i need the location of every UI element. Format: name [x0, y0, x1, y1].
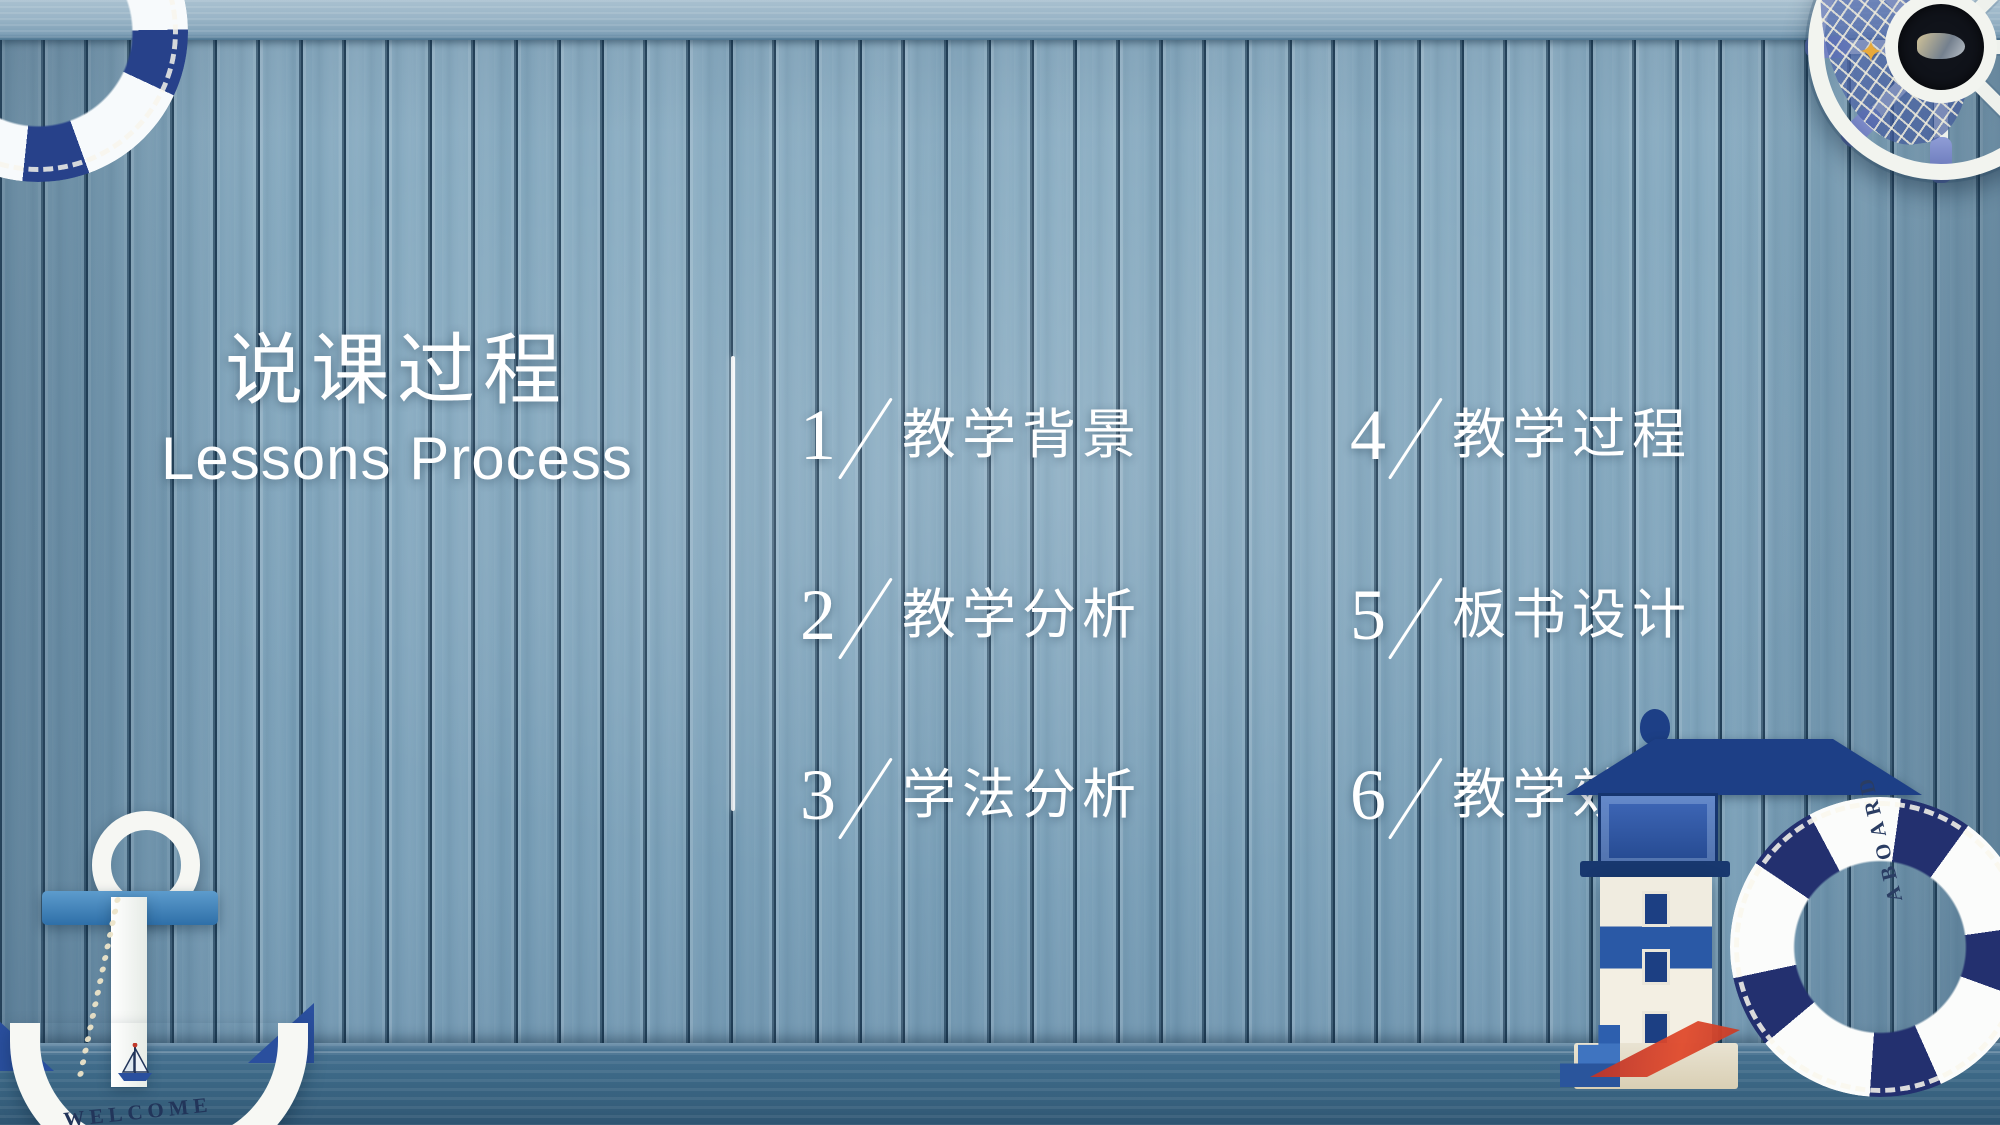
slide-content: 说课过程 Lessons Process 1 教学背景 4 教学过程 2 教学分… — [0, 0, 2000, 1125]
agenda-item-6[interactable]: 6 教学效果 — [1350, 705, 1890, 885]
agenda-label: 学法分析 — [902, 768, 1142, 822]
slash-separator-icon — [1388, 576, 1442, 654]
agenda-item-2[interactable]: 2 教学分析 — [800, 525, 1350, 705]
agenda-label: 教学效果 — [1452, 768, 1692, 822]
agenda-label: 板书设计 — [1452, 588, 1692, 642]
agenda-item-4[interactable]: 4 教学过程 — [1350, 345, 1890, 525]
agenda-number: 5 — [1350, 579, 1386, 651]
agenda-number: 1 — [800, 399, 836, 471]
slash-separator-icon — [1388, 396, 1442, 474]
slash-separator-icon — [838, 756, 892, 834]
section-title-block: 说课过程 Lessons Process — [112, 330, 682, 490]
agenda-item-1[interactable]: 1 教学背景 — [800, 345, 1350, 525]
agenda-list: 1 教学背景 4 教学过程 2 教学分析 5 板书设计 3 — [800, 345, 1890, 885]
page-title-english: Lessons Process — [112, 427, 682, 490]
agenda-item-3[interactable]: 3 学法分析 — [800, 705, 1350, 885]
agenda-number: 6 — [1350, 759, 1386, 831]
agenda-number: 3 — [800, 759, 836, 831]
vertical-divider — [731, 356, 735, 811]
slash-separator-icon — [838, 396, 892, 474]
page-title-chinese: 说课过程 — [112, 330, 682, 411]
slash-separator-icon — [1388, 756, 1442, 834]
agenda-number: 2 — [800, 579, 836, 651]
agenda-item-5[interactable]: 5 板书设计 — [1350, 525, 1890, 705]
agenda-label: 教学背景 — [902, 408, 1142, 462]
slash-separator-icon — [838, 576, 892, 654]
agenda-label: 教学分析 — [902, 588, 1142, 642]
agenda-label: 教学过程 — [1452, 408, 1692, 462]
slide-canvas: 说课过程 Lessons Process 1 教学背景 4 教学过程 2 教学分… — [0, 0, 2000, 1125]
agenda-number: 4 — [1350, 399, 1386, 471]
